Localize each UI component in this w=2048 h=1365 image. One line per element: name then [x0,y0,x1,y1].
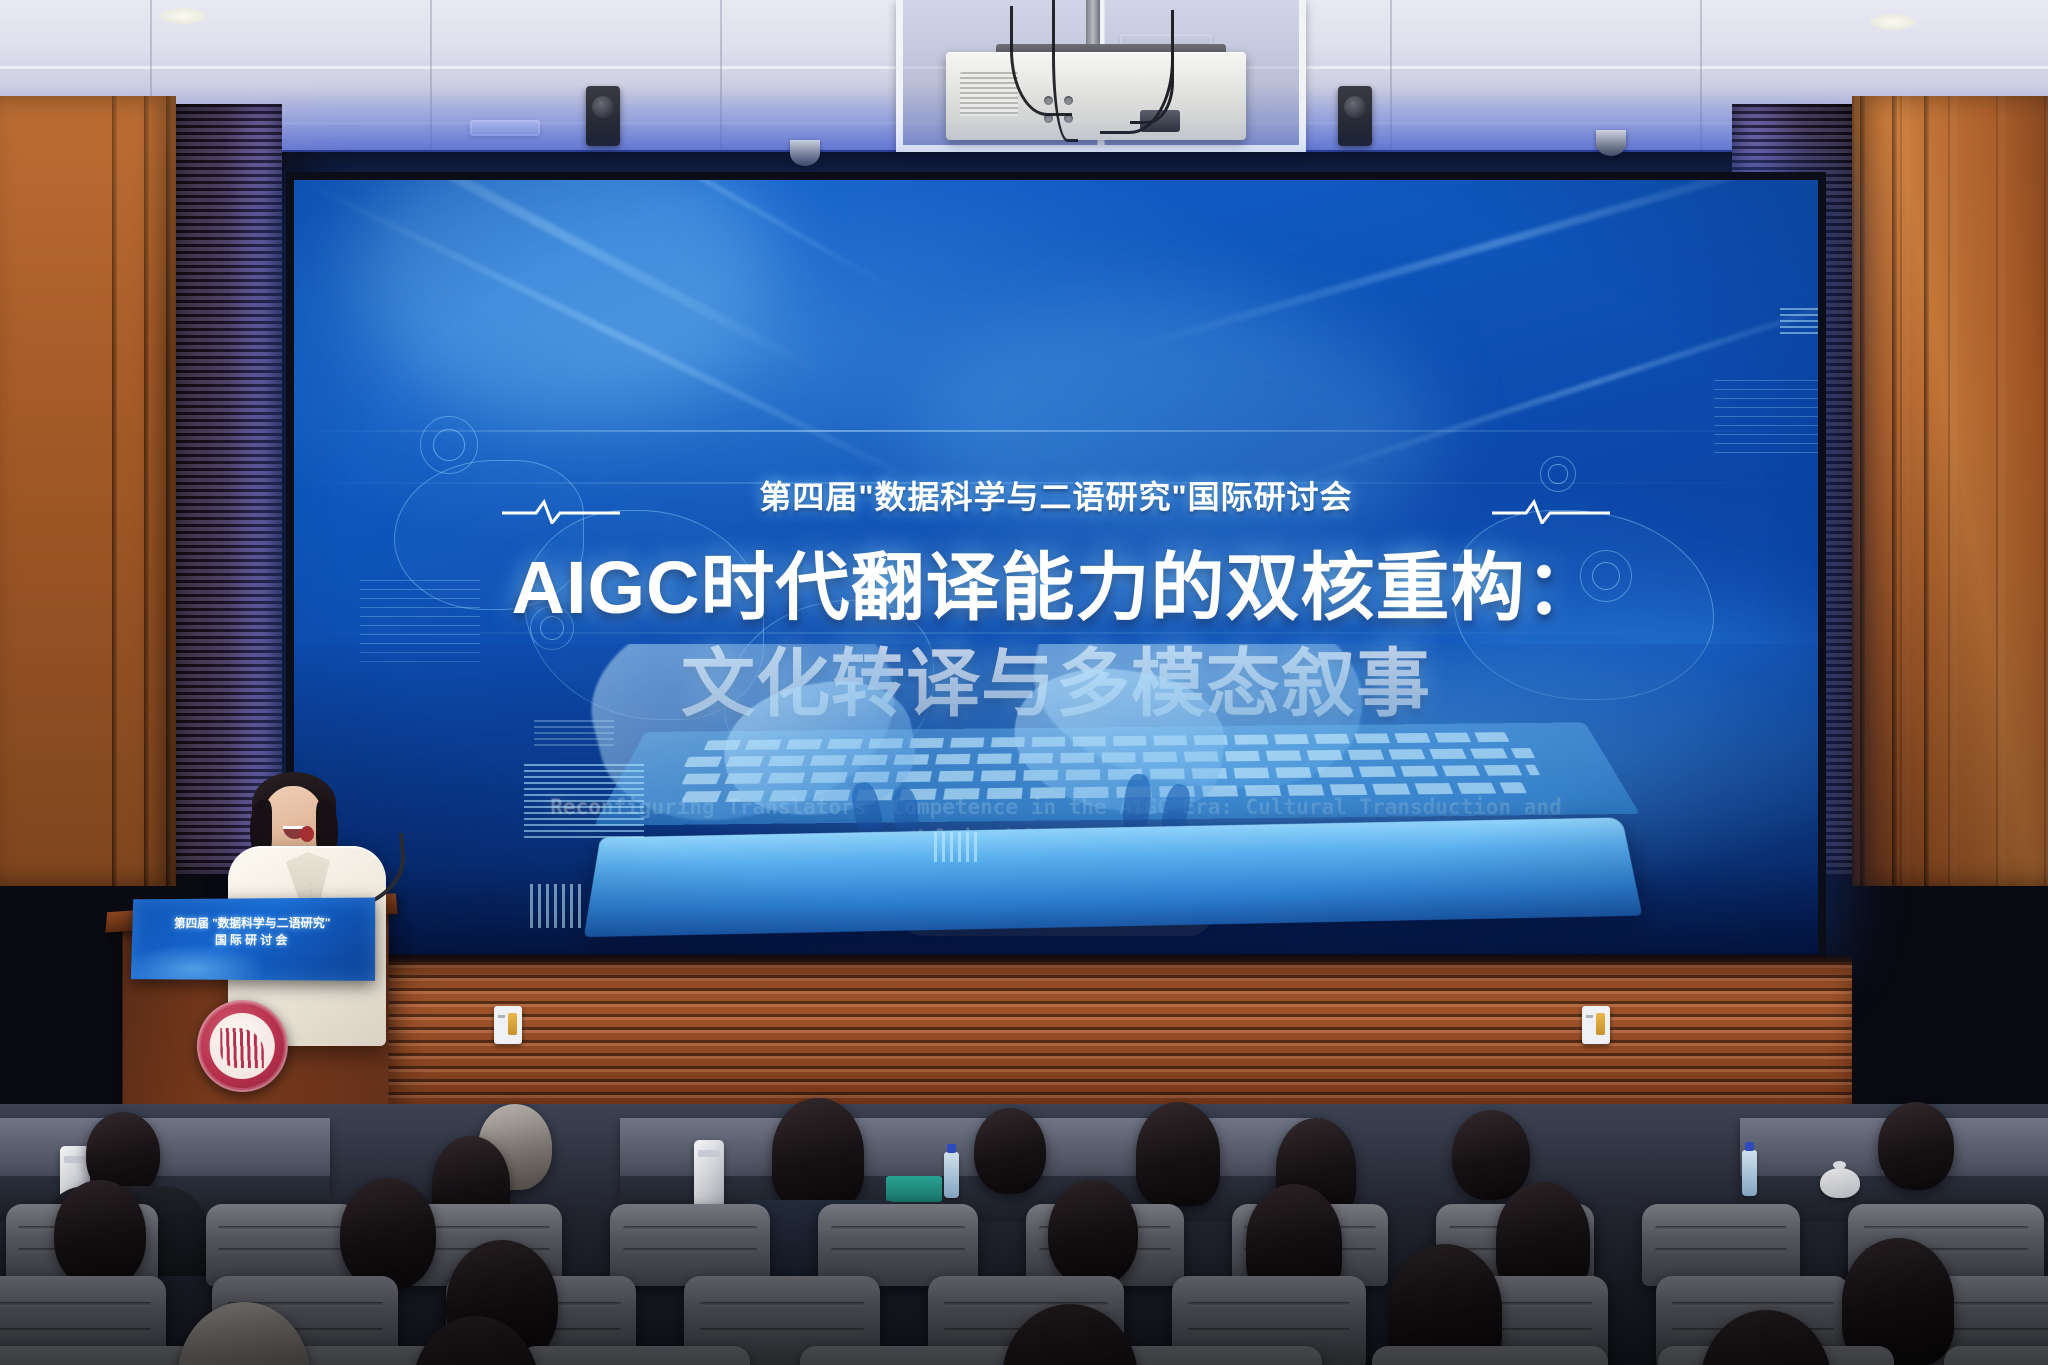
water-bottle[interactable] [944,1152,959,1198]
water-bottle[interactable] [1742,1150,1757,1196]
auditorium-seat[interactable] [800,1346,1036,1365]
projector-vent-grille [960,72,1018,116]
hud-vbar-graphic [530,884,586,928]
audience-head [772,1098,864,1208]
auditorium-seat[interactable] [610,1204,770,1286]
thermos-flask[interactable] [694,1140,724,1212]
podium-banner: 第四届 "数据科学与二语研究" 国 际 研 讨 会 [131,898,375,981]
microphone-head-icon [300,826,314,842]
wood-wall-panel-left [0,96,176,886]
hud-bar-graphic [524,764,644,842]
audience-head [974,1108,1046,1194]
podium-banner-line-1: 第四届 "数据科学与二语研究" [132,915,375,933]
led-display-bezel: 第四届"数据科学与二语研究"国际研讨会 AIGC时代翻译能力的双核重构： 文化转… [286,172,1826,962]
camera-dome-right [1596,130,1626,156]
acoustic-wall-left [176,104,282,874]
audience-head [1048,1180,1138,1286]
auditorium-seat[interactable] [1642,1204,1800,1286]
podium-banner-line-2: 国 际 研 讨 会 [132,932,375,949]
auditorium-seat[interactable] [1372,1346,1608,1365]
speaker-box-right [1338,86,1372,146]
wall-outlet-left[interactable] [494,1006,522,1044]
audience-head [54,1180,146,1288]
camera-dome-left [790,140,820,166]
speaker-box-left [586,86,620,146]
slide-photo-laptop-hands [294,644,1818,954]
audience-head [340,1178,436,1290]
teapot[interactable] [1820,1168,1860,1198]
hud-bar-graphic [1780,308,1818,336]
auditorium-scene: 第四届"数据科学与二语研究"国际研讨会 AIGC时代翻译能力的双核重构： 文化转… [0,0,2048,1365]
slide-title-line-1: AIGC时代翻译能力的双核重构： [294,540,1818,636]
wall-outlet-right[interactable] [1582,1006,1610,1044]
green-box [886,1176,942,1202]
presentation-slide[interactable]: 第四届"数据科学与二语研究"国际研讨会 AIGC时代翻译能力的双核重构： 文化转… [294,180,1818,954]
recessed-light [160,8,206,24]
audience-head [1452,1110,1530,1200]
podium-banner-text: 第四届 "数据科学与二语研究" 国 际 研 讨 会 [132,915,375,949]
auditorium-seat[interactable] [818,1204,978,1286]
university-logo [197,1000,288,1093]
auditorium-seat[interactable] [0,1346,196,1365]
audience-head [1136,1102,1220,1206]
auditorium-seat[interactable] [1944,1346,2048,1365]
hud-vbar-graphic [934,832,980,862]
recessed-light [1870,14,1916,30]
audience-head [1878,1102,1954,1190]
auditorium-seat[interactable] [520,1346,750,1365]
auditorium-seat[interactable] [206,1204,358,1286]
hud-reticle-icon [420,416,478,474]
wood-wall-panel-right [1852,96,2048,886]
slide-kicker: 第四届"数据科学与二语研究"国际研讨会 [294,472,1818,518]
